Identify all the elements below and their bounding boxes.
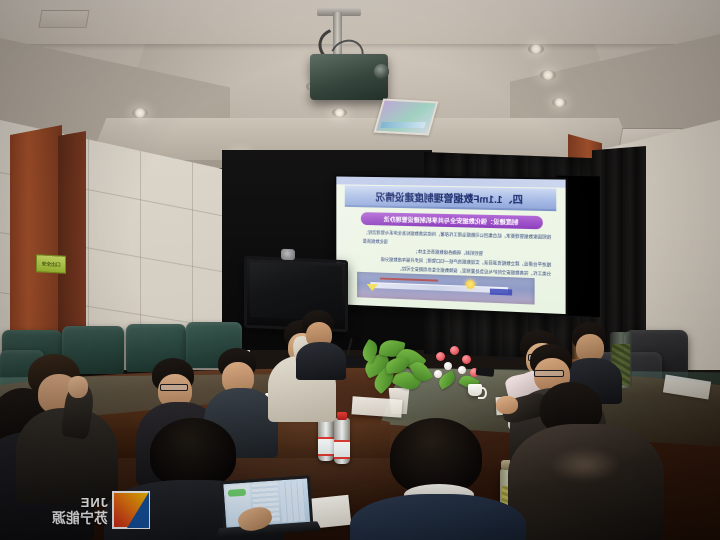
air-vent: [38, 10, 89, 28]
meeting-room-photo: 安全出口 四、1.1mF数据管理制度建设情况 制度建设：强化数据安全与共享机制建…: [0, 0, 720, 540]
attendee-hair: [390, 418, 482, 494]
slide-figure-block: [490, 289, 512, 296]
attendee: [516, 382, 656, 540]
watermark-en-label: JNE: [52, 496, 108, 509]
slide-subtitle: 制度建设：强化数据安全与共享机制建设管理办法: [361, 212, 543, 229]
slide-figure-marker-icon: [367, 284, 378, 291]
attendee-hand: [496, 396, 518, 414]
projector-lens-icon: [374, 64, 389, 79]
presentation-slide: 四、1.1mF数据管理制度建设情况 制度建设：强化数据安全与共享机制建设管理办法…: [336, 176, 565, 314]
attendee: [296, 310, 344, 370]
slide-figure: [357, 272, 535, 305]
attendee-hair: [150, 418, 236, 488]
bottle-cap: [337, 412, 347, 420]
attendee: [20, 354, 116, 494]
notepad[interactable]: [351, 396, 402, 417]
laptop[interactable]: [220, 475, 320, 540]
bottle-label: [318, 437, 334, 456]
downlight-icon: [540, 70, 556, 80]
downlight-icon: [132, 108, 148, 118]
ceiling-indicator-panel: [374, 99, 439, 136]
downlight-icon: [332, 108, 347, 117]
watermark-text: JNE 苏宁能源: [52, 496, 108, 525]
exit-sign: 安全出口: [36, 254, 66, 274]
projection-screen: 四、1.1mF数据管理制度建设情况 制度建设：强化数据安全与共享机制建设管理办法…: [334, 175, 567, 317]
watermark-logo-icon: [112, 491, 150, 529]
slide-figure-accent: [380, 278, 438, 282]
attendee-hand: [68, 376, 88, 398]
water-bottle[interactable]: [334, 418, 350, 464]
laptop-app-message-bubble: [228, 489, 246, 497]
watermark-cn-label: 苏宁能源: [52, 511, 108, 525]
downlight-icon: [528, 44, 544, 54]
eyeglasses-icon: [160, 384, 188, 391]
attendee: [356, 418, 516, 540]
ceiling-indicator-strip: [380, 122, 426, 128]
watermark: JNE 苏宁能源: [20, 484, 150, 536]
attendee-body: [350, 494, 526, 540]
attendee-body: [508, 424, 664, 540]
laptop-app-grid: [279, 481, 306, 523]
mug-handle: [478, 387, 487, 399]
attendee-jacket-highlight: [550, 448, 620, 482]
slide-title: 四、1.1mF数据管理制度建设情况: [345, 185, 556, 211]
downlight-icon: [552, 98, 567, 107]
slide-figure-bar: [370, 282, 508, 293]
attendee-body: [296, 342, 346, 380]
potted-plant: [358, 330, 436, 402]
bottle-label: [334, 440, 350, 459]
display-camera-icon: [281, 249, 295, 260]
eyeglasses-icon: [534, 370, 564, 377]
slide-figure-sun-icon: [466, 280, 475, 289]
ceramic-mug[interactable]: [468, 384, 482, 396]
